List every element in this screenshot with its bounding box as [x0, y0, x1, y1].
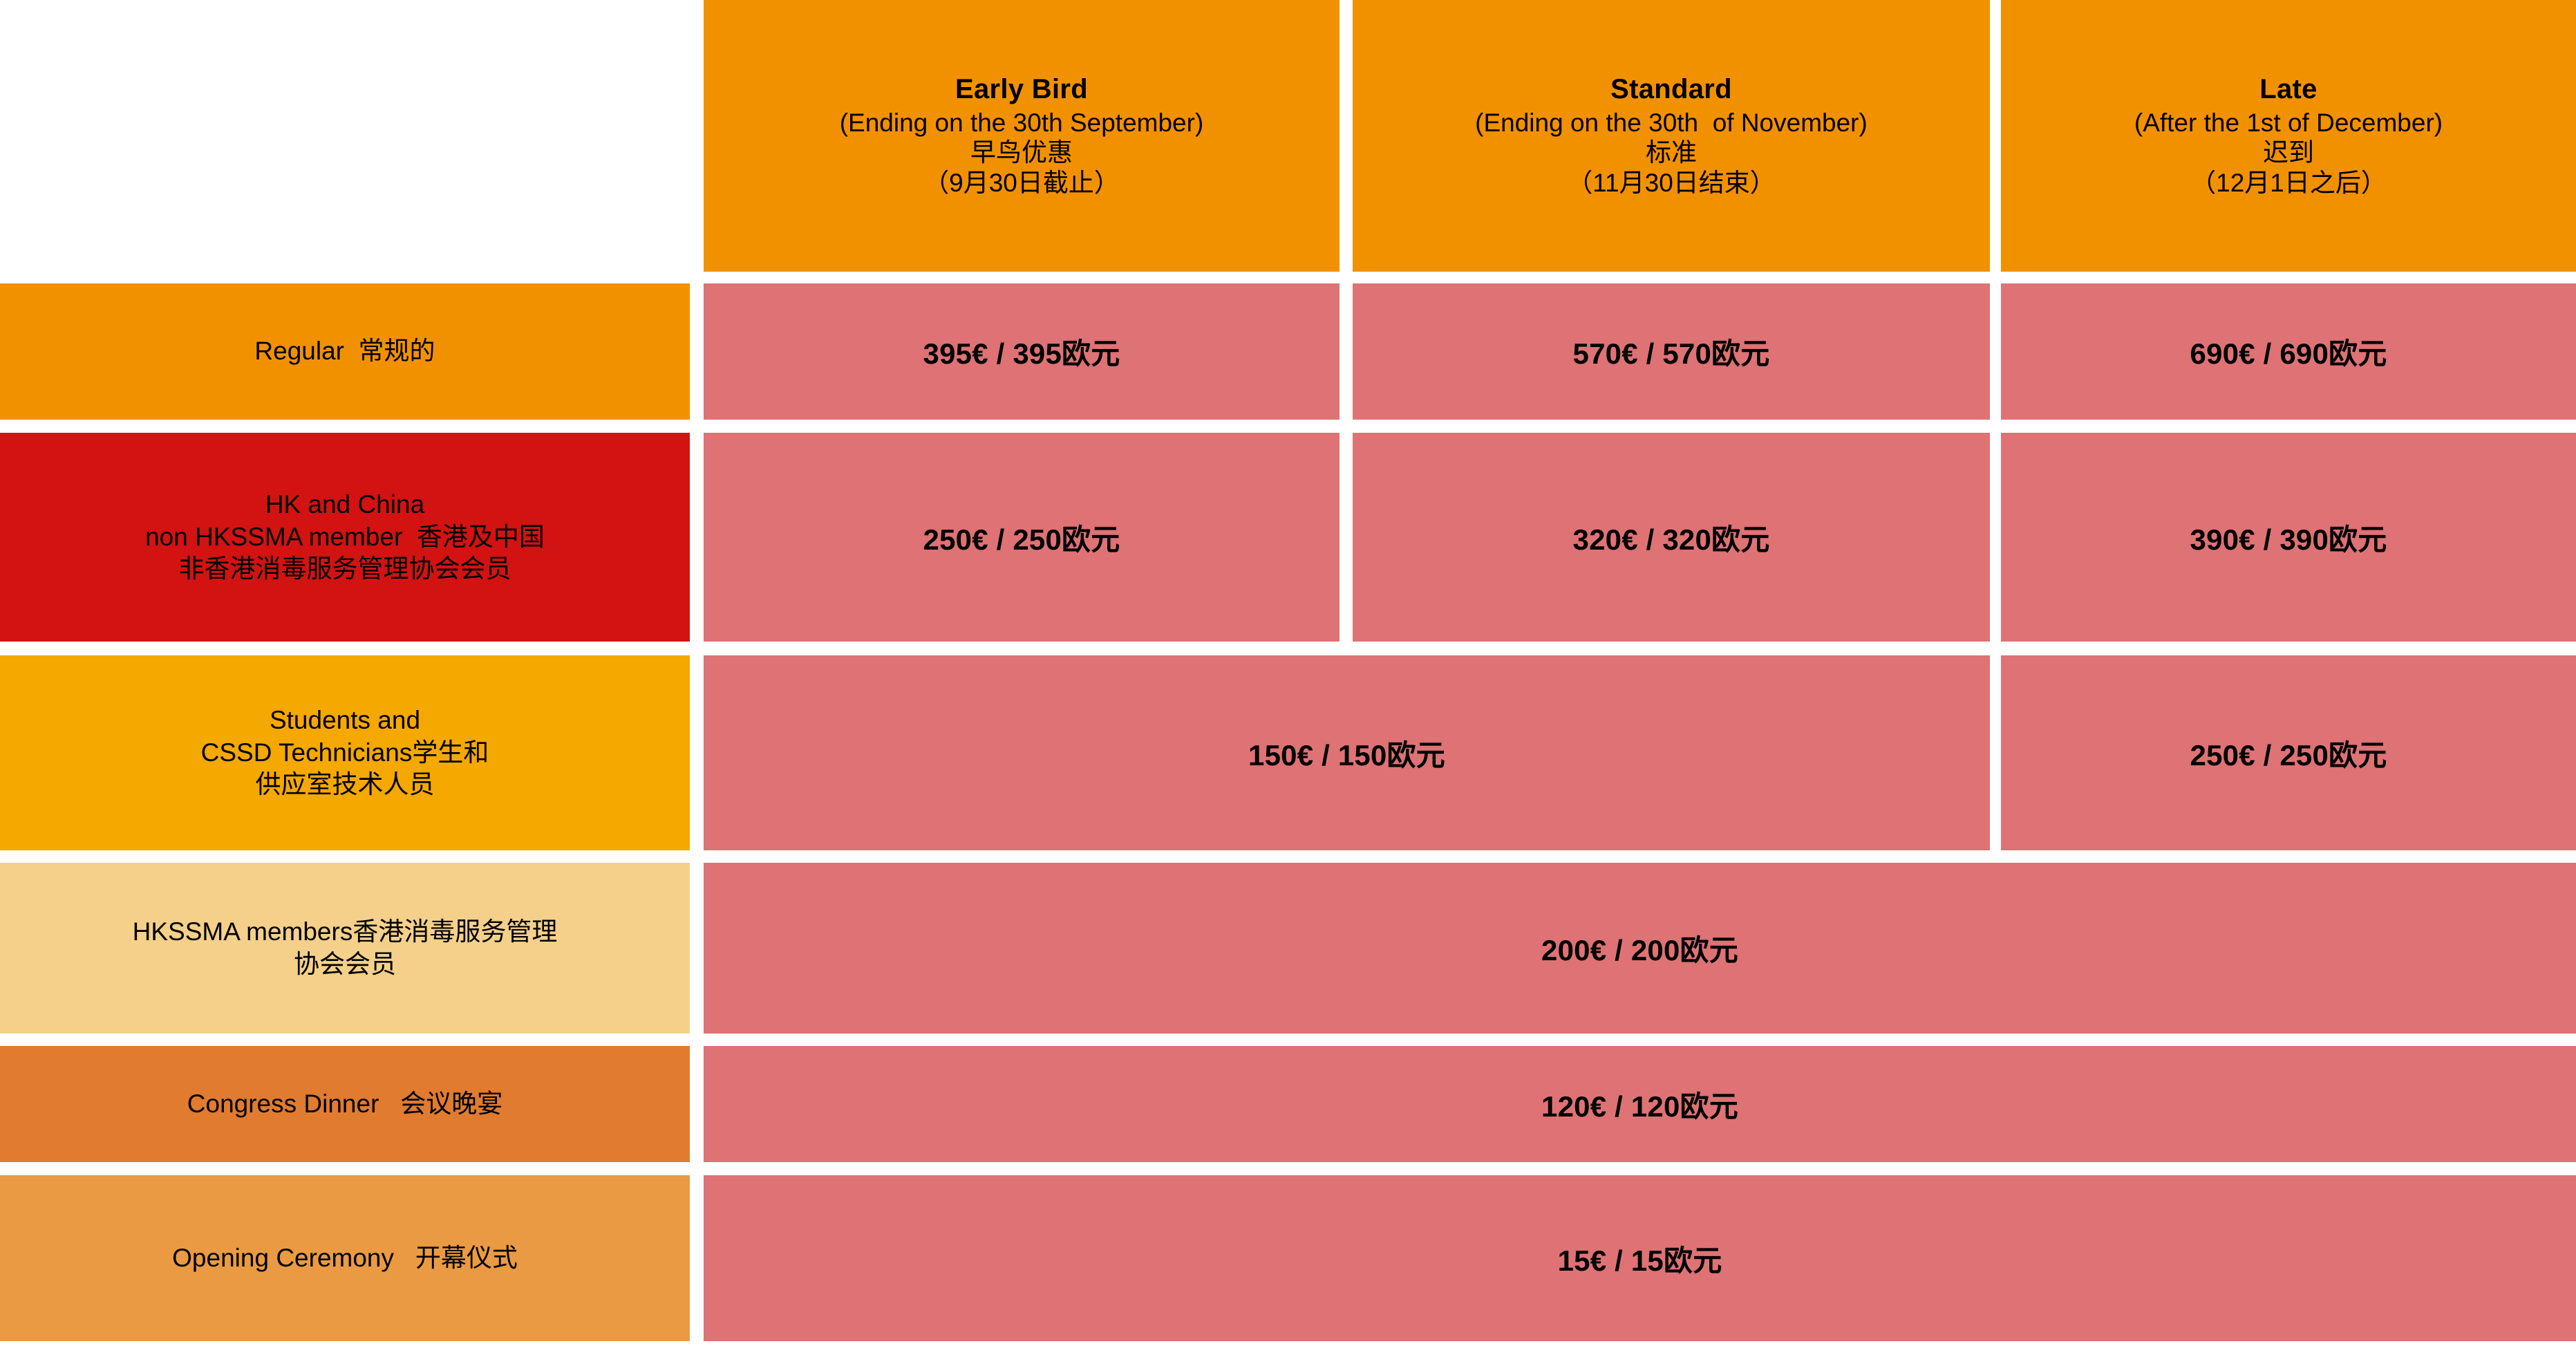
row-label-line: Opening Ceremony 开幕仪式: [172, 1242, 518, 1275]
column-gutter: [690, 433, 704, 642]
column-header-title: Late: [2259, 73, 2317, 106]
price-congress-dinner-all: 120€ / 120欧元: [704, 1046, 2576, 1162]
column-gutter: [1990, 0, 2001, 272]
column-header-standard: Standard (Ending on the 30th of November…: [1353, 0, 1990, 272]
row-label-line: HKSSMA members香港消毒服务管理: [133, 916, 558, 948]
column-header-subtitle-en: (Ending on the 30th September): [840, 108, 1204, 138]
row-gutter: [0, 1162, 2576, 1175]
price-regular-late: 690€ / 690欧元: [2001, 283, 2576, 420]
row-label-students: Students and CSSD Technicians学生和 供应室技术人员: [0, 655, 690, 850]
row-label-line: 协会会员: [294, 948, 396, 981]
column-gutter: [690, 1175, 704, 1341]
column-header-title: Early Bird: [955, 73, 1088, 106]
row-gutter: [0, 272, 2576, 283]
column-gutter: [690, 0, 704, 272]
row-label-hk-china: HK and China non HKSSMA member 香港及中国 非香港…: [0, 433, 690, 642]
column-gutter: [1990, 283, 2001, 420]
column-header-subtitle-zh: 迟到: [2263, 138, 2314, 168]
row-label-opening-ceremony: Opening Ceremony 开幕仪式: [0, 1175, 690, 1341]
table-corner-cell: [0, 0, 690, 272]
row-gutter: [0, 1034, 2576, 1046]
row-label-congress-dinner: Congress Dinner 会议晚宴: [0, 1046, 690, 1162]
column-gutter: [690, 863, 704, 1034]
column-header-subtitle-zh-date: （11月30日结束）: [1567, 168, 1776, 198]
column-gutter: [1990, 655, 2001, 850]
price-students-early-bird-standard: 150€ / 150欧元: [704, 655, 1990, 850]
row-label-line: Students and: [270, 704, 420, 737]
row-label-line: CSSD Technicians学生和: [201, 737, 489, 769]
column-header-early-bird: Early Bird (Ending on the 30th September…: [704, 0, 1339, 272]
column-header-subtitle-zh: 标准: [1646, 138, 1697, 168]
column-gutter: [690, 655, 704, 850]
row-label-line: Regular 常规的: [254, 335, 435, 368]
registration-fee-table: Early Bird (Ending on the 30th September…: [0, 0, 2576, 1355]
column-header-subtitle-zh: 早鸟优惠: [970, 138, 1073, 168]
column-gutter: [690, 1046, 704, 1162]
price-hk-china-standard: 320€ / 320欧元: [1353, 433, 1990, 642]
row-label-line: Congress Dinner 会议晚宴: [187, 1088, 502, 1121]
price-hk-china-late: 390€ / 390欧元: [2001, 433, 2576, 642]
column-gutter: [1990, 433, 2001, 642]
column-header-subtitle-en: (Ending on the 30th of November): [1475, 108, 1868, 138]
row-label-regular: Regular 常规的: [0, 283, 690, 420]
price-regular-standard: 570€ / 570欧元: [1353, 283, 1990, 420]
row-gutter: [0, 420, 2576, 433]
row-gutter: [0, 642, 2576, 655]
row-gutter: [0, 850, 2576, 863]
price-students-late: 250€ / 250欧元: [2001, 655, 2576, 850]
row-label-line: non HKSSMA member 香港及中国: [145, 521, 545, 554]
column-gutter: [1339, 283, 1353, 420]
column-gutter: [1339, 433, 1353, 642]
row-label-line: 供应室技术人员: [256, 769, 435, 801]
price-regular-early-bird: 395€ / 395欧元: [704, 283, 1339, 420]
row-label-hkssma-members: HKSSMA members香港消毒服务管理 协会会员: [0, 863, 690, 1034]
column-header-subtitle-zh-date: （12月1日之后）: [2190, 168, 2387, 198]
price-hk-china-early-bird: 250€ / 250欧元: [704, 433, 1339, 642]
price-hkssma-members-all: 200€ / 200欧元: [704, 863, 2576, 1034]
column-header-subtitle-zh-date: （9月30日截止）: [923, 168, 1120, 198]
column-gutter: [690, 283, 704, 420]
column-gutter: [1339, 0, 1353, 272]
price-opening-ceremony-all: 15€ / 15欧元: [704, 1175, 2576, 1341]
row-label-line: 非香港消毒服务管理协会会员: [179, 553, 511, 586]
column-header-late: Late (After the 1st of December) 迟到 （12月…: [2001, 0, 2576, 272]
row-label-line: HK and China: [265, 489, 424, 521]
column-header-subtitle-en: (After the 1st of December): [2134, 108, 2443, 138]
column-header-title: Standard: [1610, 73, 1732, 106]
